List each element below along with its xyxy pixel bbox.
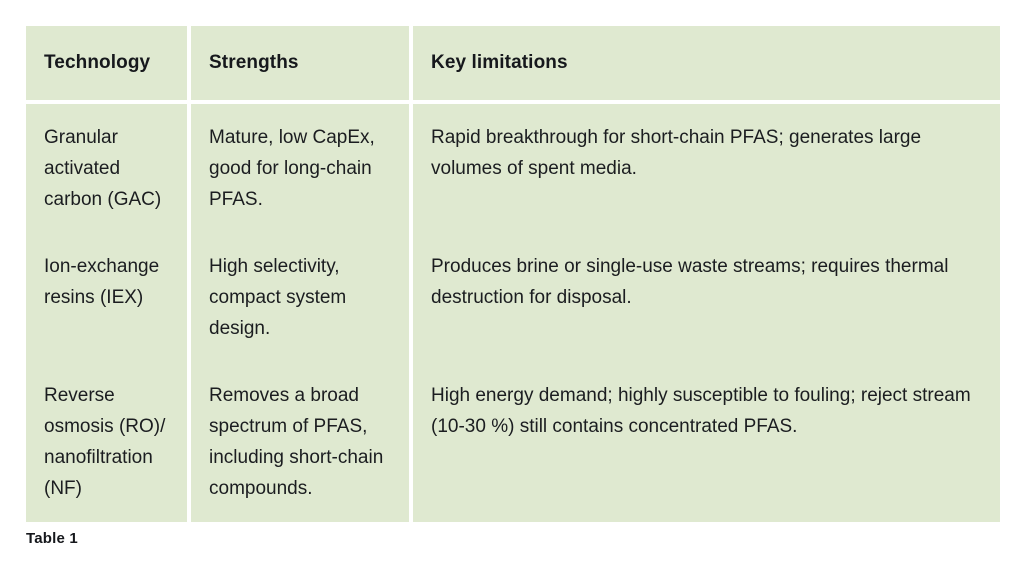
- cell-key-limitations-text: Produces brine or single-use waste strea…: [431, 251, 980, 313]
- column-header-key-limitations: Key limitations: [411, 26, 1000, 102]
- cell-technology: Reverse osmosis (RO)/ nanofiltration (NF…: [26, 362, 189, 522]
- cell-strengths: High selectivity, compact system design.: [189, 233, 411, 362]
- table-caption: Table 1: [26, 530, 78, 547]
- cell-key-limitations: Rapid breakthrough for short-chain PFAS;…: [411, 102, 1000, 233]
- comparison-table-container: Technology Strengths Key limitations Gra…: [26, 26, 1000, 518]
- cell-strengths-text: Mature, low CapEx, good for long-chain P…: [209, 122, 395, 215]
- cell-strengths-text: High selectivity, compact system design.: [209, 251, 395, 344]
- cell-strengths: Removes a broad spectrum of PFAS, includ…: [189, 362, 411, 522]
- table-body: Granular activated carbon (GAC) Mature, …: [26, 102, 1000, 522]
- table-row: Reverse osmosis (RO)/ nanofiltration (NF…: [26, 362, 1000, 522]
- table-header: Technology Strengths Key limitations: [26, 26, 1000, 102]
- table-row: Ion-exchange resins (IEX) High selectivi…: [26, 233, 1000, 362]
- cell-strengths-text: Removes a broad spectrum of PFAS, includ…: [209, 380, 395, 504]
- table-row: Granular activated carbon (GAC) Mature, …: [26, 102, 1000, 233]
- page-root: Technology Strengths Key limitations Gra…: [0, 0, 1024, 576]
- cell-technology: Ion-exchange resins (IEX): [26, 233, 189, 362]
- cell-strengths: Mature, low CapEx, good for long-chain P…: [189, 102, 411, 233]
- comparison-table: Technology Strengths Key limitations Gra…: [26, 26, 1000, 522]
- cell-key-limitations-text: High energy demand; highly susceptible t…: [431, 380, 980, 442]
- cell-technology-text: Reverse osmosis (RO)/ nanofiltration (NF…: [44, 380, 173, 504]
- cell-key-limitations-text: Rapid breakthrough for short-chain PFAS;…: [431, 122, 980, 184]
- cell-key-limitations: Produces brine or single-use waste strea…: [411, 233, 1000, 362]
- cell-technology-text: Ion-exchange resins (IEX): [44, 251, 173, 313]
- cell-technology-text: Granular activated carbon (GAC): [44, 122, 173, 215]
- cell-key-limitations: High energy demand; highly susceptible t…: [411, 362, 1000, 522]
- column-header-strengths: Strengths: [189, 26, 411, 102]
- column-header-technology: Technology: [26, 26, 189, 102]
- cell-technology: Granular activated carbon (GAC): [26, 102, 189, 233]
- table-header-row: Technology Strengths Key limitations: [26, 26, 1000, 102]
